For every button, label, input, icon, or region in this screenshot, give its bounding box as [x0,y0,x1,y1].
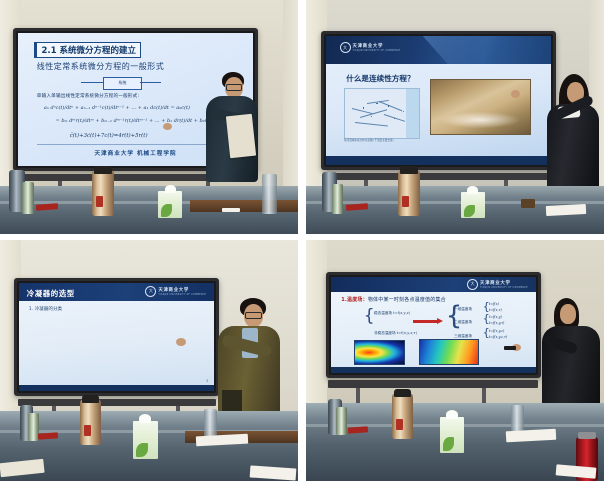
tissue-sheet [467,186,478,194]
logo-subtitle: TIANJIN UNIVERSITY OF COMMERCE [158,293,206,296]
presenter-glasses [226,84,242,91]
university-logo: 大 天津商业大学 TIANJIN UNIVERSITY OF COMMERCE [145,286,206,297]
slide-temperature-field: 大 天津商业大学 TIANJIN UNIVERSITY OF COMMERCE … [331,277,536,373]
presenter-notebook [226,114,256,158]
logo-seal-icon: 大 [145,286,156,297]
display-screen: 大 天津商业大学 TIANJIN UNIVERSITY OF COMMERCE … [331,277,536,373]
tissue-sheet [446,410,458,419]
green-bottle [332,184,343,214]
slide-footer-bar [326,156,551,165]
branch-label-1: 稳态温度场 t=f(x,y,z) [374,311,410,316]
red-thermos-cap [578,432,596,439]
logo-subtitle: TIANJIN UNIVERSITY OF COMMERCE [353,49,401,52]
branch-label-2: 非稳态温度场 t=f(x,y,z,τ) [374,331,417,336]
interactive-display: 大 天津商业大学 TIANJIN UNIVERSITY OF COMMERCE … [321,31,556,170]
panel-top-left: 2.1 系统微分方程的建立 线性定常系统微分方程的一般形式 系统 单输入单输出线… [0,0,298,234]
slide-title: 冷凝器的选型 [27,288,75,299]
display-soundbar [18,399,216,406]
system-block: 系统 [103,77,143,90]
panel-bottom-right: 大 天津商业大学 TIANJIN UNIVERSITY OF COMMERCE … [306,240,604,481]
green-bottle [22,182,34,214]
desk-object [521,199,535,208]
slide-heading-line: 1.温度场：物体中某一时刻各点温度值的集合 [341,296,446,303]
thermos-flask [92,170,114,216]
display-soundbar [328,380,538,388]
green-bottle [336,407,347,435]
panel-bottom-left: 冷凝器的选型 大 天津商业大学 TIANJIN UNIVERSITY OF CO… [0,240,298,481]
block-input-arrow [81,82,102,83]
branch-sub-2: 二维温度场 [454,320,472,325]
brace-left: { [364,308,375,325]
thermos-label [402,196,409,207]
university-logo: 大 天津商业大学 TIANJIN UNIVERSITY OF COMMERCE [340,42,401,53]
presenter-hand [163,123,172,130]
logo-text-group: 天津商业大学 TIANJIN UNIVERSITY OF COMMERCE [158,287,206,296]
slide-footer-bar [19,385,214,391]
equation-1: t=f(x) [489,302,499,306]
slide-condenser-selection: 冷凝器的选型 大 天津商业大学 TIANJIN UNIVERSITY OF CO… [19,283,214,391]
presenter-hand [176,338,186,346]
equation-6: t=f(x,y,z,τ) [489,335,507,339]
tissue-sheet [165,185,176,193]
slide-footer-bar [331,367,536,373]
block-output-arrow [140,82,161,83]
equation-2: = bₘ dᵐr(t)/dtᵐ + bₘ₋₁ dᵐ⁻¹r(t)/dtᵐ⁻¹ + … [56,118,213,124]
logo-text-group: 天津商业大学 TIANJIN UNIVERSITY OF COMMERCE [353,43,401,52]
display-screen: 大 天津商业大学 TIANJIN UNIVERSITY OF COMMERCE … [326,36,551,165]
equation-4: t=f(x,y,τ) [489,321,505,325]
logo-seal-icon: 大 [340,42,351,53]
red-arrow [413,320,438,323]
thermos-label [84,425,91,436]
slide-title: 2.1 系统微分方程的建立 [34,42,141,58]
interactive-display: 大 天津商业大学 TIANJIN UNIVERSITY OF COMMERCE … [326,272,541,378]
paper-stack [546,204,586,216]
slide-bullet-1: 1. 冷凝器的分类 [29,306,62,312]
equation-5: t=f(x,y,z) [489,329,504,333]
thermos-label [96,196,103,207]
heading-text: 物体中某一时刻各点温度值的集合 [368,297,446,303]
map-caption: 黄河流域水系分布示意图 (干流及主要支流) [344,138,394,142]
thermos-flask [398,170,420,216]
thermos-cap [400,166,418,174]
paper-stack [222,208,240,212]
slide-title: 什么是连续性方程？ [346,73,414,84]
branch-sub-1: 一维温度场 [454,307,472,312]
thermos-cap [82,395,99,403]
photo-collage: 2.1 系统微分方程的建立 线性定常系统微分方程的一般形式 系统 单输入单输出线… [0,0,604,481]
equation-2: t=f(x,τ) [489,308,502,312]
presentation-remote [504,346,516,350]
logo-text-group: 天津商业大学 TIANJIN UNIVERSITY OF COMMERCE [480,280,528,289]
thermos-flask [392,393,413,439]
slide-body-line: 单输入单输出线性定常系统微分方程的一般形式: [37,93,139,99]
cfd-figure-2 [419,339,478,365]
equation-3: t=f(x,y) [489,315,502,319]
slide-divider [37,144,234,145]
river-map-figure [344,88,420,139]
slide-continuity-equation: 大 天津商业大学 TIANJIN UNIVERSITY OF COMMERCE … [326,36,551,165]
logo-subtitle: TIANJIN UNIVERSITY OF COMMERCE [480,286,528,289]
thermos-cap [394,389,411,397]
water-bottle-right [262,174,277,214]
table-wood-rim [190,200,298,212]
panel-top-right: 大 天津商业大学 TIANJIN UNIVERSITY OF COMMERCE … [306,0,604,234]
equation-3: c̈(t)+3ċ(t)+7c(t)=4ṙ(t)+5r(t) [70,133,148,139]
cfd-figure-1 [354,340,405,365]
university-logo: 大 天津商业大学 TIANJIN UNIVERSITY OF COMMERCE [467,279,528,290]
heading-label: 1.温度场： [341,297,368,303]
logo-seal-icon: 大 [467,279,478,290]
presenter-hand [511,90,520,98]
thermos-flask [80,399,101,445]
interactive-display: 冷凝器的选型 大 天津商业大学 TIANJIN UNIVERSITY OF CO… [14,278,219,396]
thermos-cap [94,166,112,174]
tissue-sheet [139,414,151,423]
display-soundbar [326,173,551,180]
presenter-glasses [245,312,262,319]
branch-sub-3: 三维温度场 [454,334,472,339]
display-screen: 冷凝器的选型 大 天津商业大学 TIANJIN UNIVERSITY OF CO… [19,283,214,391]
waterfall-photo [430,79,531,135]
presenter-head [560,304,576,324]
slide-page-number: 3 [206,379,208,383]
thermos-label [396,419,403,430]
equation-1: aₙ dⁿc(t)/dtⁿ + aₙ₋₁ dⁿ⁻¹c(t)/dtⁿ⁻¹ + ..… [44,105,190,111]
slide-subtitle: 线性定常系统微分方程的一般形式 [37,61,165,72]
